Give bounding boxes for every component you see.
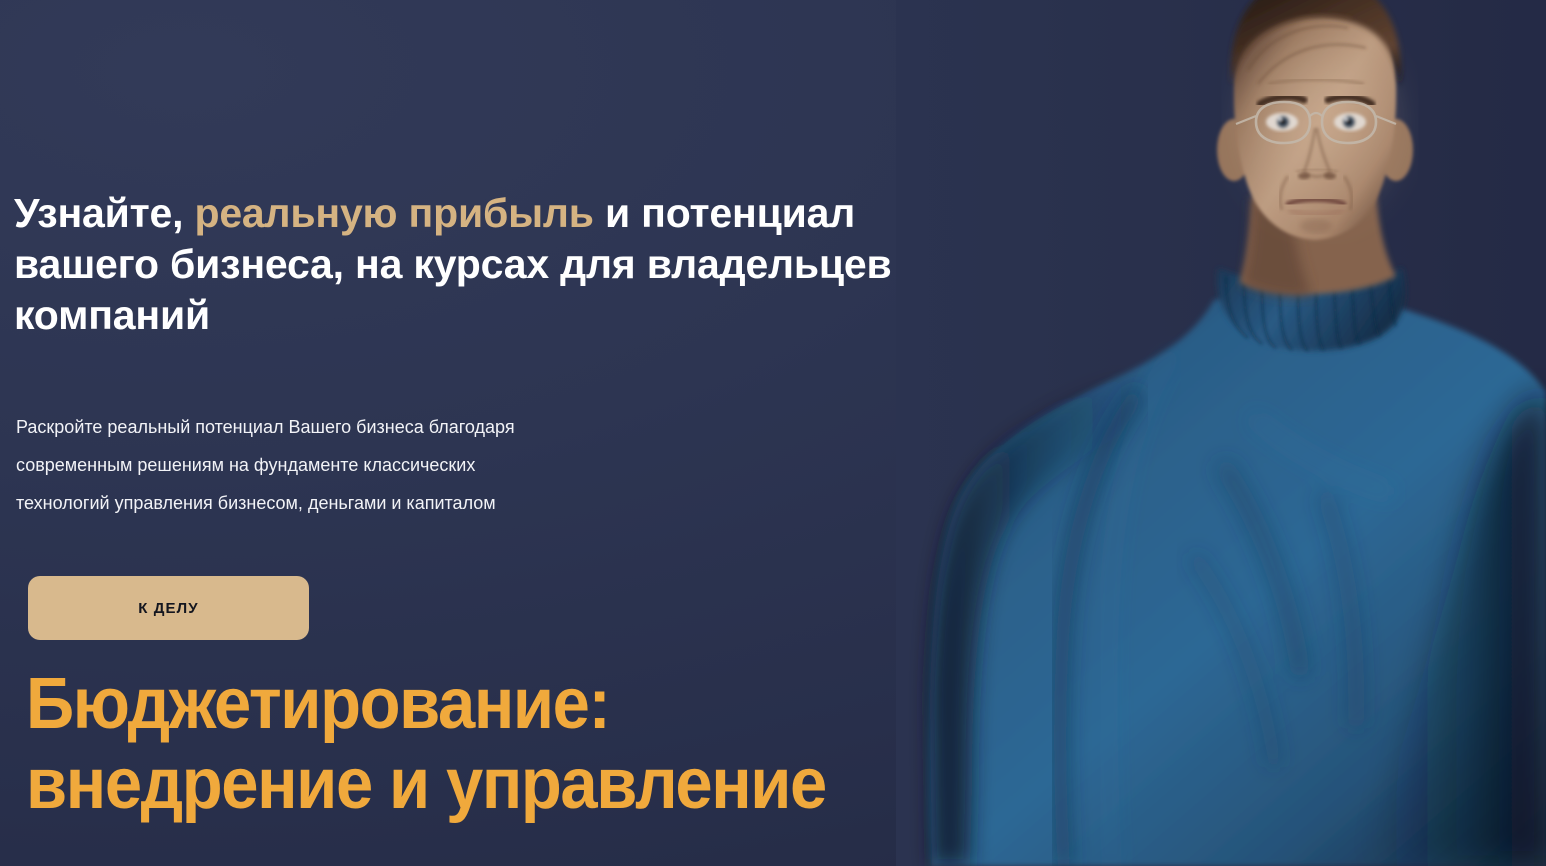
- course-title: Бюджетирование: внедрение и управление: [26, 664, 1049, 824]
- cta-button[interactable]: К ДЕЛУ: [28, 576, 309, 640]
- hero-subtitle: Раскройте реальный потенциал Вашего бизн…: [16, 408, 716, 522]
- course-title-line-1: Бюджетирование:: [26, 664, 1049, 744]
- course-title-line-2: внедрение и управление: [26, 744, 1049, 824]
- subtitle-line-3: технологий управления бизнесом, деньгами…: [16, 484, 716, 522]
- headline-part-1: Узнайте,: [14, 190, 194, 236]
- hero-section: Узнайте, реальную прибыль и потенциал ва…: [0, 0, 1546, 866]
- cta-button-label: К ДЕЛУ: [138, 600, 198, 617]
- page-title: Узнайте, реальную прибыль и потенциал ва…: [14, 188, 914, 341]
- subtitle-line-2: современным решениям на фундаменте класс…: [16, 446, 716, 484]
- subtitle-line-1: Раскройте реальный потенциал Вашего бизн…: [16, 408, 716, 446]
- headline-accent: реальную прибыль: [194, 190, 593, 236]
